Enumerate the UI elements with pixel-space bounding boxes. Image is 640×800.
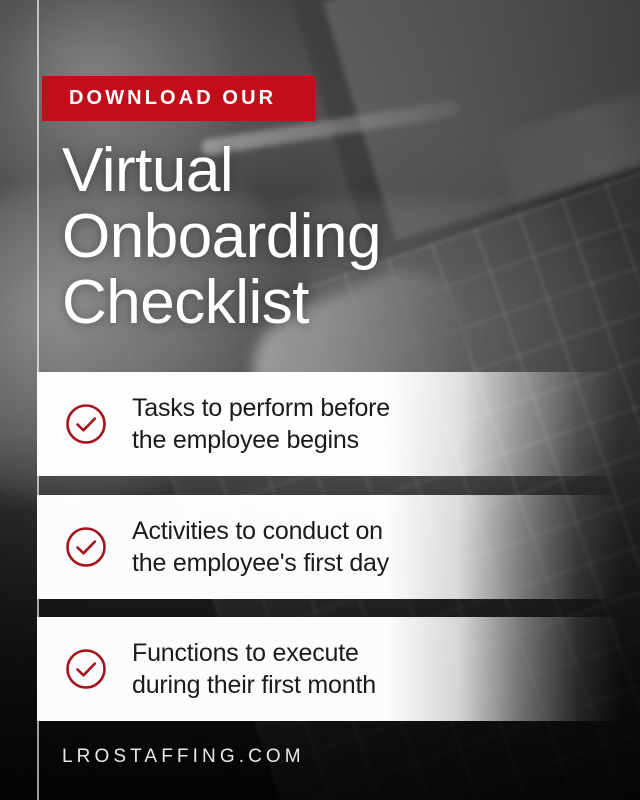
page-title: Virtual Onboarding Checklist — [62, 138, 381, 336]
list-item-label: Tasks to perform before the employee beg… — [132, 392, 390, 456]
list-item: Functions to execute during their first … — [37, 617, 640, 721]
list-item: Activities to conduct on the employee's … — [37, 495, 640, 599]
headline-line-2: Onboarding — [62, 204, 381, 270]
check-circle-icon — [65, 526, 107, 568]
eyebrow-banner: DOWNLOAD OUR — [42, 76, 315, 121]
list-item: Tasks to perform before the employee beg… — [37, 372, 640, 476]
check-circle-icon — [65, 648, 107, 690]
footer-website[interactable]: LROSTAFFING.COM — [62, 746, 305, 768]
headline-line-1: Virtual — [62, 138, 381, 204]
list-item-label: Activities to conduct on the employee's … — [132, 515, 389, 579]
headline-line-3: Checklist — [62, 270, 381, 336]
poster-canvas: DOWNLOAD OUR Virtual Onboarding Checklis… — [0, 0, 640, 800]
eyebrow-label: DOWNLOAD OUR — [42, 87, 276, 110]
check-circle-icon — [65, 403, 107, 445]
list-item-label: Functions to execute during their first … — [132, 637, 376, 701]
